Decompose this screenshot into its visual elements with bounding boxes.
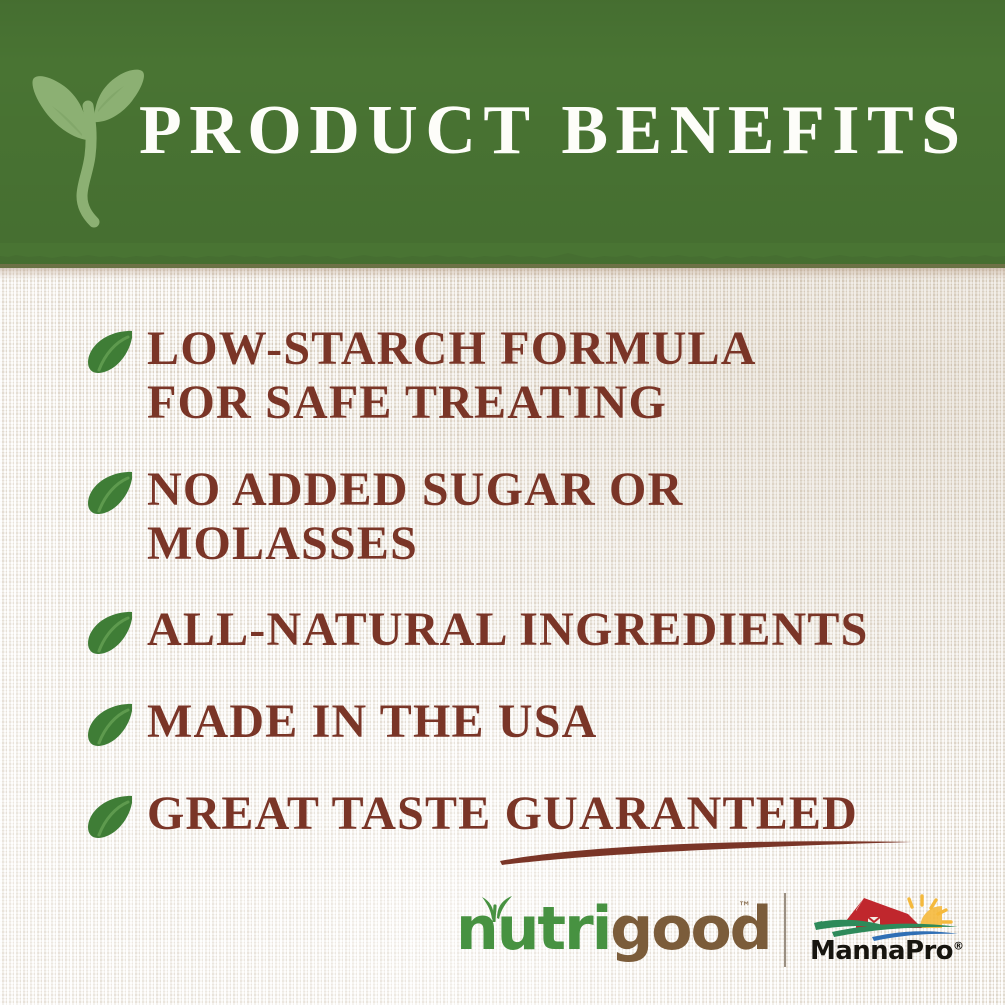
list-item: ALL-NATURAL INGREDIENTS (84, 603, 869, 657)
torn-edge (0, 243, 1005, 269)
list-item: LOW-STARCH FORMULA FOR SAFE TREATING (84, 322, 757, 430)
list-item-label: MADE IN THE USA (147, 695, 598, 749)
leaf-icon (84, 609, 136, 657)
logo-strip: nutrigood ™ (452, 892, 972, 968)
trademark-symbol: ™ (738, 900, 751, 915)
registered-symbol: ® (953, 939, 963, 952)
mannapro-logo: MannaPro® (810, 892, 960, 968)
header-band: PRODUCT BENEFITS (0, 0, 1005, 268)
mannapro-text: MannaPro (810, 936, 953, 966)
leaf-icon (84, 793, 136, 841)
hand-drawn-underline-icon (496, 836, 916, 866)
list-item-label: ALL-NATURAL INGREDIENTS (147, 603, 869, 657)
page-title: PRODUCT BENEFITS (139, 92, 939, 170)
barn-sun-logo-icon (812, 890, 960, 942)
leaf-icon (84, 328, 136, 376)
list-item: NO ADDED SUGAR OR MOLASSES (84, 463, 683, 571)
list-item-label: GREAT TASTE GUARANTEED (147, 787, 858, 841)
list-item: MADE IN THE USA (84, 695, 598, 749)
mannapro-wordmark: MannaPro® (810, 936, 960, 966)
leaf-icon (84, 469, 136, 517)
sprout-icon (28, 44, 156, 229)
list-item-label: LOW-STARCH FORMULA FOR SAFE TREATING (147, 322, 757, 430)
logo-divider (784, 893, 786, 967)
nutrigood-logo: nutrigood ™ (452, 892, 772, 968)
sprout-leaf-icon (474, 888, 516, 922)
list-item-label: NO ADDED SUGAR OR MOLASSES (147, 463, 683, 571)
product-benefits-infographic: PRODUCT BENEFITS LOW-STARCH FORMULA FOR … (0, 0, 1005, 1005)
leaf-icon (84, 701, 136, 749)
list-item: GREAT TASTE GUARANTEED (84, 787, 858, 841)
